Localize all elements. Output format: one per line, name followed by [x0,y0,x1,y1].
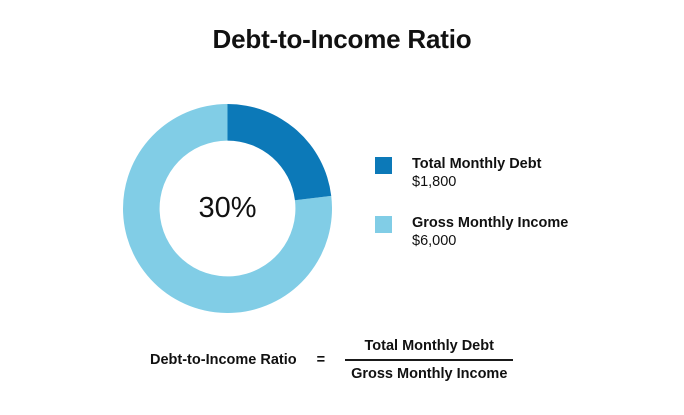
donut-chart-svg [123,104,332,313]
legend-value-gross-monthly-income: $6,000 [412,232,568,251]
legend-swatch-gross-monthly-income [375,216,392,233]
legend-swatch-total-monthly-debt [375,157,392,174]
page-title: Debt-to-Income Ratio [0,24,684,55]
legend-label-gross-monthly-income: Gross Monthly Income [412,215,568,231]
formula-left-hand-side: Debt-to-Income Ratio [150,352,297,368]
legend-item-gross-monthly-income[interactable]: Gross Monthly Income $6,000 [375,214,655,251]
donut-chart: 30% [123,104,332,313]
legend-item-total-monthly-debt[interactable]: Total Monthly Debt $1,800 [375,155,655,192]
legend-text-total-monthly-debt: Total Monthly Debt $1,800 [412,155,541,192]
formula-fraction: Total Monthly Debt Gross Monthly Income [345,336,513,384]
legend: Total Monthly Debt $1,800 Gross Monthly … [375,155,655,273]
formula-denominator: Gross Monthly Income [345,364,513,384]
legend-value-total-monthly-debt: $1,800 [412,173,541,192]
donut-segment-total-monthly-debt [228,104,332,200]
legend-label-total-monthly-debt: Total Monthly Debt [412,156,541,172]
formula: Debt-to-Income Ratio = Total Monthly Deb… [150,336,570,384]
legend-text-gross-monthly-income: Gross Monthly Income $6,000 [412,214,568,251]
formula-fraction-bar [345,359,513,361]
formula-equals-sign: = [317,352,325,368]
formula-numerator: Total Monthly Debt [359,336,500,356]
